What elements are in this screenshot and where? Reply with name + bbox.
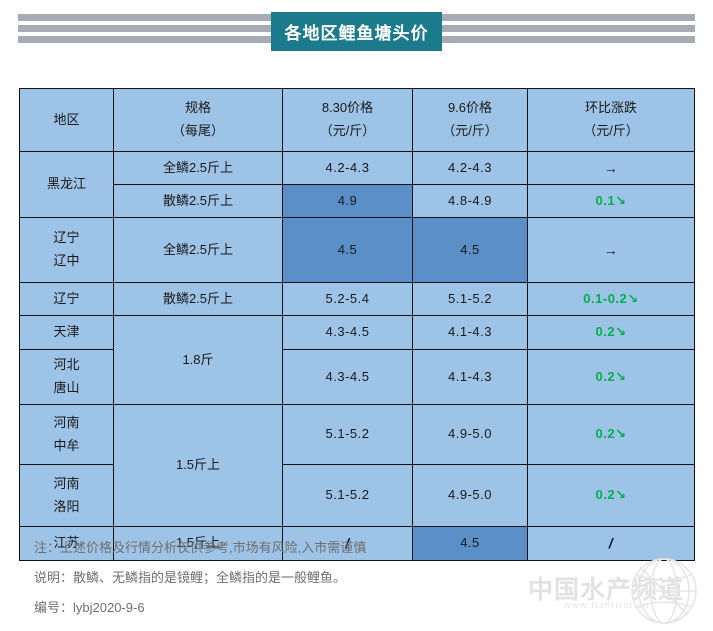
- change-cell: 0.2↘: [528, 350, 695, 405]
- price-96-cell: 5.1-5.2: [413, 283, 528, 316]
- change-cell: →: [528, 218, 695, 283]
- price-96-cell: 4.1-4.3: [413, 350, 528, 405]
- region-name-line1: 天津: [21, 321, 112, 344]
- region-name-line1: 河南: [21, 412, 112, 435]
- price-96-cell: 4.1-4.3: [413, 316, 528, 350]
- change-cell: 0.2↘: [528, 316, 695, 350]
- spec-cell: 全鳞2.5斤上: [114, 152, 283, 185]
- note-explanation: 说明：散鳞、无鳞指的是镜鲤；全鳞指的是一般鲤鱼。: [34, 563, 674, 593]
- price-830-cell-highlight: 4.5: [283, 218, 413, 283]
- arrow-down-icon: ↘: [627, 291, 638, 306]
- table-row: 河南 中牟 1.5斤上 5.1-5.2 4.9-5.0 0.2↘: [20, 405, 695, 465]
- price-830-cell: 5.1-5.2: [283, 405, 413, 465]
- arrow-flat-icon: →: [604, 242, 619, 258]
- header-price-830-line1: 8.30价格: [284, 97, 411, 120]
- arrow-flat-icon: →: [604, 160, 619, 176]
- price-96-cell: 4.8-4.9: [413, 185, 528, 218]
- price-table: 地区 规格 （每尾） 8.30价格 （元/斤） 9.6价格 （元/斤） 环比涨跌…: [19, 88, 695, 561]
- price-830-cell: 5.1-5.2: [283, 465, 413, 527]
- header-region: 地区: [20, 89, 114, 152]
- header-change-line1: 环比涨跌: [529, 97, 693, 120]
- arrow-down-icon: ↘: [615, 426, 626, 441]
- header-price-830-line2: （元/斤）: [284, 120, 411, 143]
- header-price-96-line2: （元/斤）: [414, 120, 526, 143]
- change-cell: 0.1↘: [528, 185, 695, 218]
- price-830-cell: 4.2-4.3: [283, 152, 413, 185]
- region-heilongjiang: 黑龙江: [20, 152, 114, 218]
- change-cell: 0.1-0.2↘: [528, 283, 695, 316]
- table-row: 散鳞2.5斤上 4.9 4.8-4.9 0.1↘: [20, 185, 695, 218]
- page-banner: 各地区鲤鱼塘头价: [0, 0, 713, 72]
- region-henan-zhongmu: 河南 中牟: [20, 405, 114, 465]
- table-row: 辽宁 散鳞2.5斤上 5.2-5.4 5.1-5.2 0.1-0.2↘: [20, 283, 695, 316]
- note-disclaimer: 注：上述价格及行情分析仅供参考,市场有风险,入市需谨慎: [34, 533, 674, 563]
- table-header-row: 地区 规格 （每尾） 8.30价格 （元/斤） 9.6价格 （元/斤） 环比涨跌…: [20, 89, 695, 152]
- change-value: 0.2: [596, 324, 616, 339]
- change-value: 0.2: [596, 369, 616, 384]
- banner-stripe-right-3: [442, 36, 695, 43]
- arrow-down-icon: ↘: [615, 369, 626, 384]
- region-henan-luoyang: 河南 洛阳: [20, 465, 114, 527]
- banner-stripe-right-1: [442, 14, 695, 21]
- region-hebei-tangshan: 河北 唐山: [20, 350, 114, 405]
- table-row: 天津 1.8斤 4.3-4.5 4.1-4.3 0.2↘: [20, 316, 695, 350]
- change-value: 0.2: [596, 426, 616, 441]
- header-price-830: 8.30价格 （元/斤）: [283, 89, 413, 152]
- header-region-line1: 地区: [21, 109, 112, 132]
- change-value: 0.2: [596, 487, 616, 502]
- change-value: 0.1-0.2: [583, 291, 627, 306]
- region-tianjin: 天津: [20, 316, 114, 350]
- header-price-96: 9.6价格 （元/斤）: [413, 89, 528, 152]
- spec-cell-merged: 1.8斤: [114, 316, 283, 405]
- header-spec-line1: 规格: [115, 97, 281, 120]
- change-value: 0.1: [596, 193, 616, 208]
- region-name-line2: 洛阳: [21, 496, 112, 519]
- price-96-cell-highlight: 4.5: [413, 218, 528, 283]
- arrow-down-icon: ↘: [615, 487, 626, 502]
- header-spec: 规格 （每尾）: [114, 89, 283, 152]
- region-name-line1: 辽宁: [21, 227, 112, 250]
- arrow-down-icon: ↘: [615, 324, 626, 339]
- note-id: 编号：lybj2020-9-6: [34, 593, 674, 623]
- region-name-line2: 中牟: [21, 435, 112, 458]
- banner-stripe-right-2: [442, 25, 695, 32]
- header-spec-line2: （每尾）: [115, 120, 281, 143]
- region-name-line1: 辽宁: [21, 288, 112, 311]
- header-price-96-line1: 9.6价格: [414, 97, 526, 120]
- region-liaoning-liaozhong: 辽宁 辽中: [20, 218, 114, 283]
- footer-notes: 注：上述价格及行情分析仅供参考,市场有风险,入市需谨慎 说明：散鳞、无鳞指的是镜…: [34, 533, 674, 623]
- header-change: 环比涨跌 （元/斤）: [528, 89, 695, 152]
- spec-cell-merged: 1.5斤上: [114, 405, 283, 527]
- price-table-wrapper: 地区 规格 （每尾） 8.30价格 （元/斤） 9.6价格 （元/斤） 环比涨跌…: [19, 88, 694, 561]
- arrow-down-icon: ↘: [615, 193, 626, 208]
- banner-stripe-left-1: [18, 14, 271, 21]
- spec-cell: 散鳞2.5斤上: [114, 185, 283, 218]
- price-830-cell: 5.2-5.4: [283, 283, 413, 316]
- spec-cell: 全鳞2.5斤上: [114, 218, 283, 283]
- change-cell: 0.2↘: [528, 405, 695, 465]
- page-title: 各地区鲤鱼塘头价: [271, 12, 442, 51]
- change-cell: 0.2↘: [528, 465, 695, 527]
- region-name-line1: 河北: [21, 354, 112, 377]
- price-830-cell: 4.3-4.5: [283, 350, 413, 405]
- banner-stripe-left-3: [18, 36, 271, 43]
- header-change-line2: （元/斤）: [529, 120, 693, 143]
- region-name-line2: 唐山: [21, 377, 112, 400]
- price-96-cell: 4.9-5.0: [413, 465, 528, 527]
- change-cell: →: [528, 152, 695, 185]
- table-row: 黑龙江 全鳞2.5斤上 4.2-4.3 4.2-4.3 →: [20, 152, 695, 185]
- region-name-line1: 河南: [21, 473, 112, 496]
- banner-stripe-left-2: [18, 25, 271, 32]
- region-name-line2: 辽中: [21, 250, 112, 273]
- price-830-cell-highlight: 4.9: [283, 185, 413, 218]
- spec-cell: 散鳞2.5斤上: [114, 283, 283, 316]
- region-name-line1: 黑龙江: [21, 173, 112, 196]
- table-row: 辽宁 辽中 全鳞2.5斤上 4.5 4.5 →: [20, 218, 695, 283]
- region-liaoning: 辽宁: [20, 283, 114, 316]
- price-96-cell: 4.2-4.3: [413, 152, 528, 185]
- price-96-cell: 4.9-5.0: [413, 405, 528, 465]
- price-830-cell: 4.3-4.5: [283, 316, 413, 350]
